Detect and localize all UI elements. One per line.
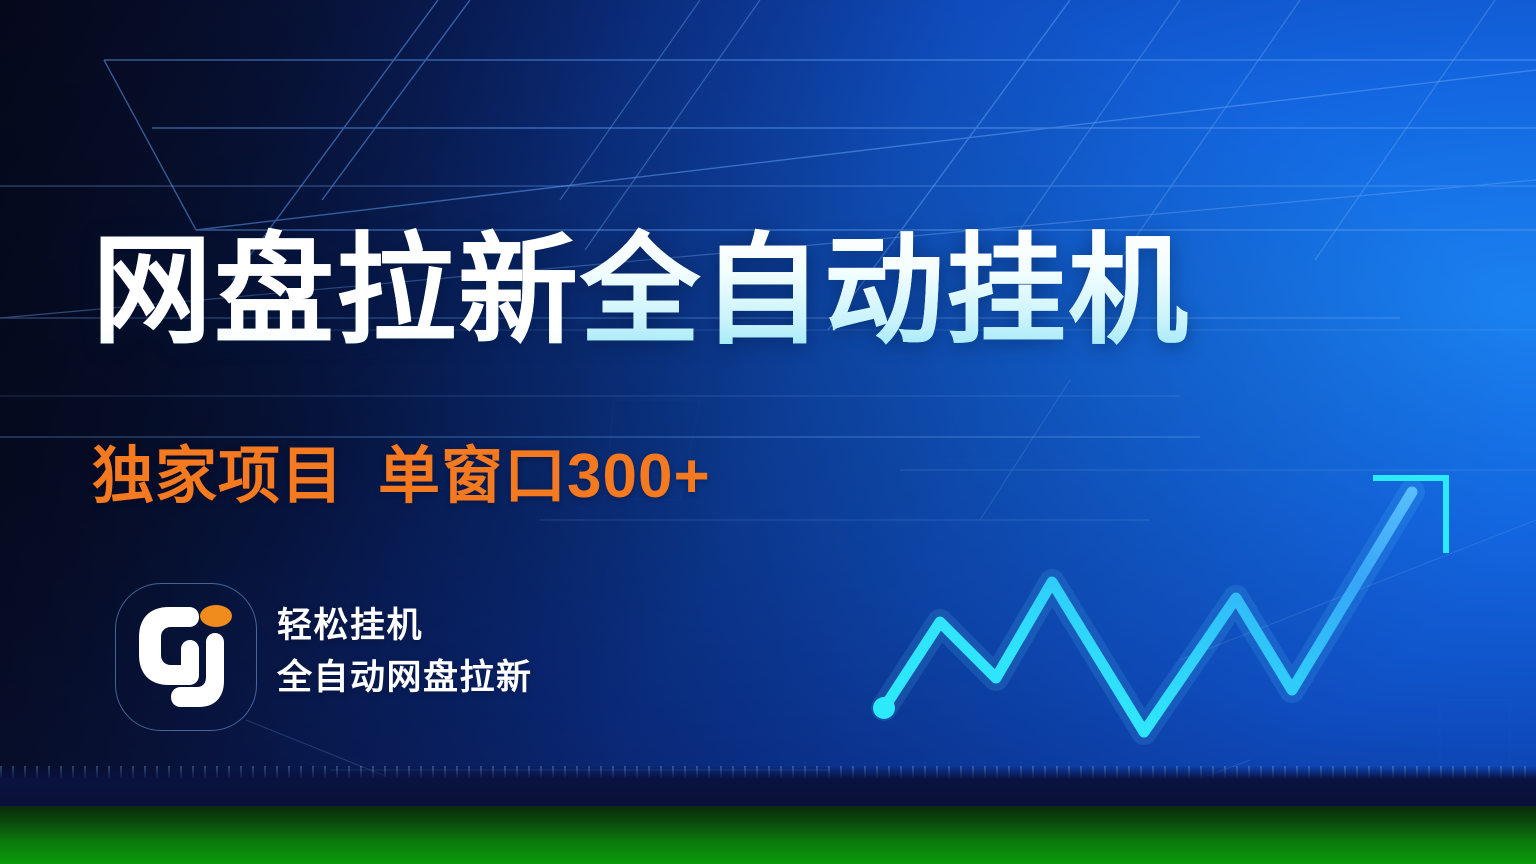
chart-start-point — [873, 697, 895, 719]
subtitle: 独家项目单窗口300+ — [92, 425, 711, 515]
promo-banner: 网盘拉新全自动挂机 独家项目单窗口300+ 轻松挂机 全自动网盘拉新 — [0, 0, 1536, 864]
brand-logo — [115, 583, 257, 731]
bottom-green-band — [0, 806, 1536, 864]
page-title: 网盘拉新全自动挂机 — [92, 228, 1190, 355]
tagline-line-1: 轻松挂机 — [277, 600, 533, 652]
tagline-line-2: 全自动网盘拉新 — [277, 652, 533, 704]
subtitle-left: 独家项目 — [92, 442, 344, 511]
growth-line-chart — [840, 440, 1536, 770]
chart-line-glow — [884, 492, 1412, 732]
logo-gj-icon — [129, 599, 243, 715]
tagline: 轻松挂机 全自动网盘拉新 — [277, 600, 533, 704]
logo-accent-dot — [200, 605, 232, 627]
bottom-navy-band — [0, 766, 1536, 810]
subtitle-right: 单窗口300+ — [378, 442, 711, 511]
headline-segment-primary: 网盘拉新 — [92, 224, 580, 358]
headline-segment-accent: 全自动挂机 — [580, 224, 1190, 358]
